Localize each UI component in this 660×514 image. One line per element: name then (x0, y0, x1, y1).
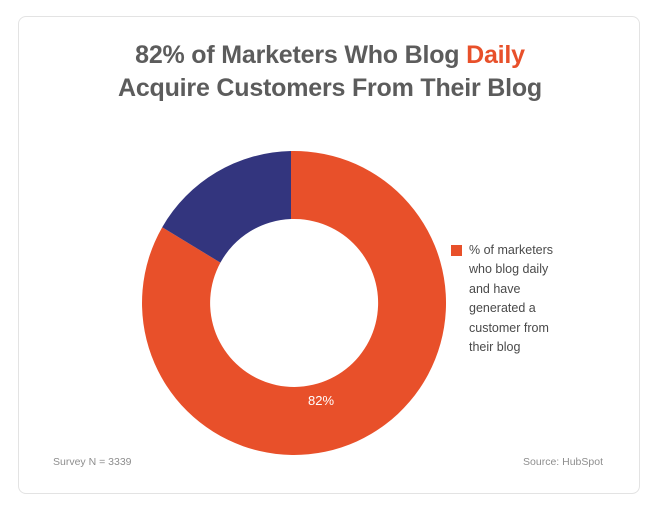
donut-chart: 82% (121, 133, 461, 473)
slice-value-label-orange: 82% (308, 393, 334, 408)
title-accent-daily: Daily (466, 41, 525, 69)
screenshot-canvas: 82% of Marketers Who Blog Daily Acquire … (0, 0, 660, 514)
legend-swatch-icon (451, 245, 462, 256)
donut-chart-svg: 82% (121, 133, 461, 473)
chart-legend: % of marketers who blog daily and have g… (451, 241, 567, 357)
survey-note: Survey N = 3339 (53, 456, 132, 468)
legend-item-label: % of marketers who blog daily and have g… (469, 241, 567, 357)
page-title: 82% of Marketers Who Blog Daily Acquire … (59, 39, 601, 106)
chart-card: 82% of Marketers Who Blog Daily Acquire … (18, 16, 640, 494)
source-note: Source: HubSpot (523, 456, 603, 468)
title-line1-text: 82% of Marketers Who Blog (135, 41, 466, 69)
title-line2-text: Acquire Customers From Their Blog (118, 74, 542, 102)
